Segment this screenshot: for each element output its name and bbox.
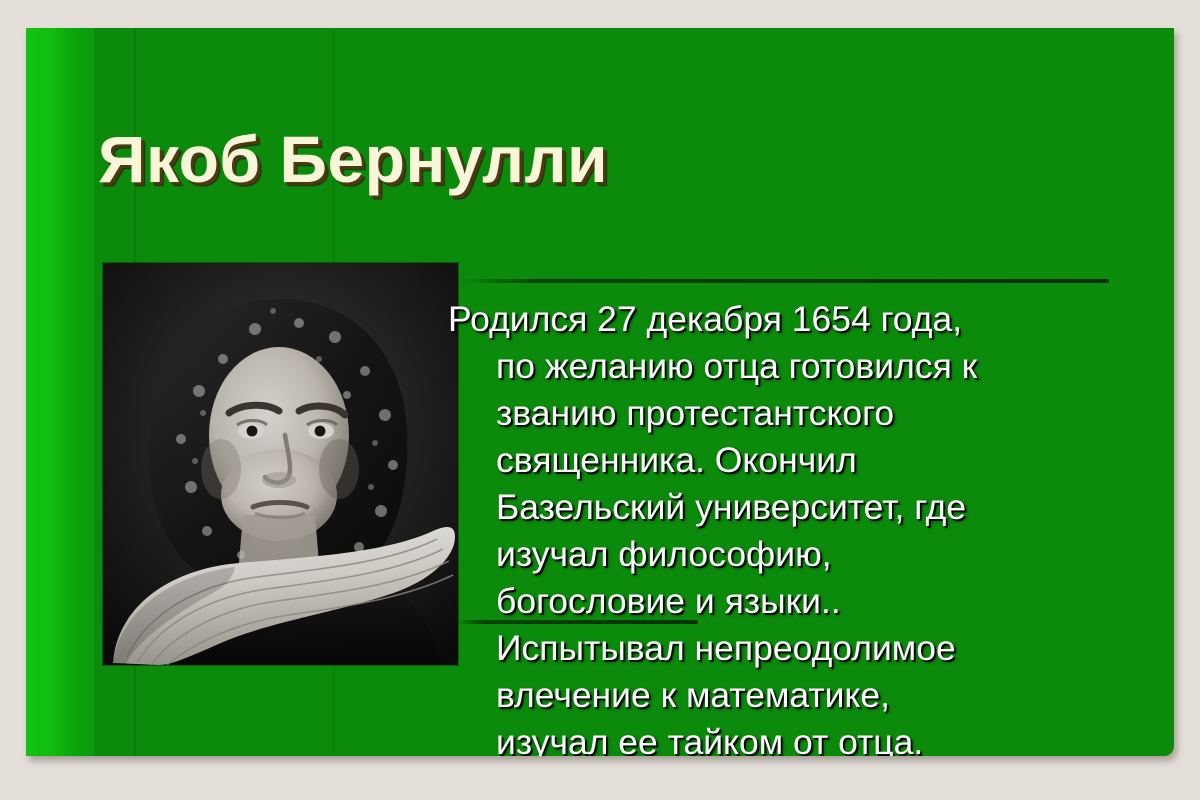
body-line: Испытывал непреодолимое (544, 625, 1174, 672)
body-line: влечение к математике, (544, 672, 1174, 719)
divider-rule-top (461, 279, 1109, 283)
body-line: изучал ее тайком от отца. (544, 719, 1174, 756)
left-accent-band-inner (70, 28, 94, 756)
portrait-image (103, 263, 458, 665)
body-line: званию протестантского (544, 390, 1174, 437)
slide-canvas: Якоб Бернулли (0, 0, 1200, 800)
slide-body-text: Родился 27 декабря 1654 года,по желанию … (496, 296, 1174, 756)
slide-title: Якоб Бернулли (98, 126, 608, 192)
body-line: по желанию отца готовился к (544, 343, 1174, 390)
body-line: богословие и языки.. (544, 578, 1174, 625)
left-accent-band (26, 28, 70, 756)
body-line: Базельский университет, где (544, 484, 1174, 531)
body-line: Родился 27 декабря 1654 года, (496, 296, 1174, 343)
presentation-slide: Якоб Бернулли (26, 28, 1174, 756)
body-line: священника. Окончил (544, 437, 1174, 484)
portrait-illustration (103, 263, 458, 665)
body-line: изучал философию, (544, 531, 1174, 578)
